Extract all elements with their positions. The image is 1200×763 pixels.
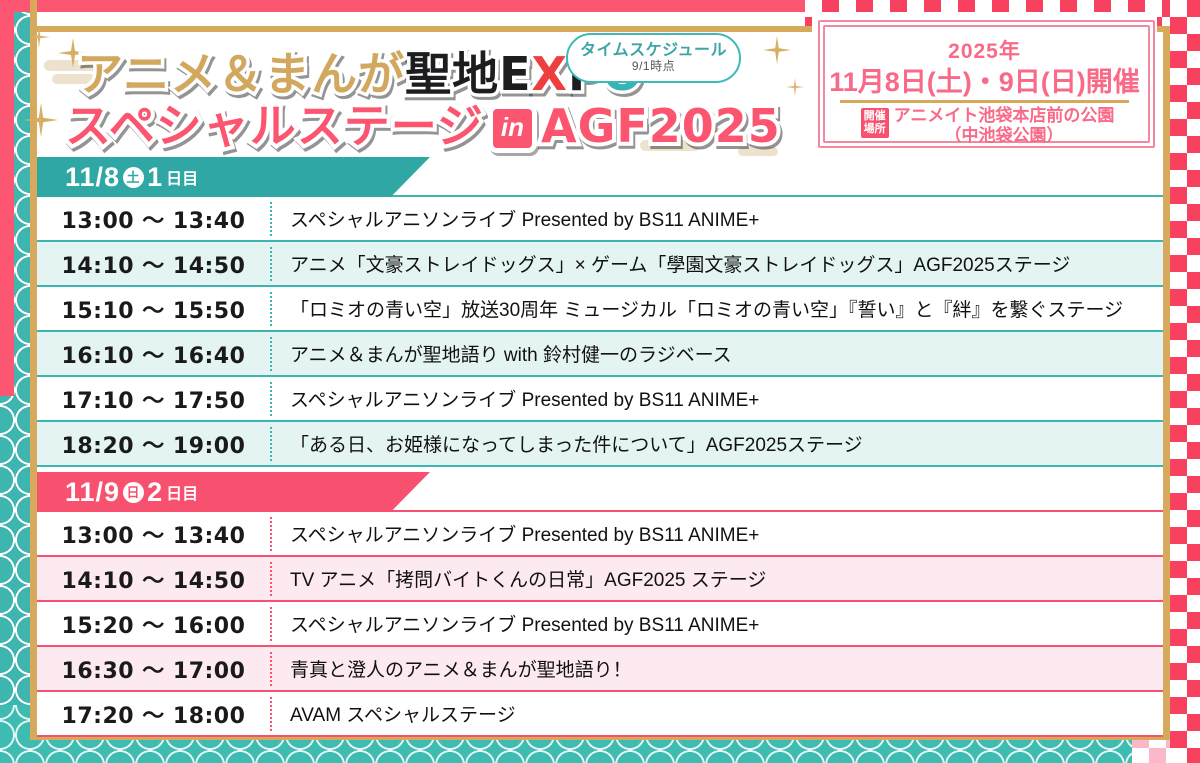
row-time: 16:10 ～ 16:40 [37, 338, 270, 370]
row-title: 青真と澄人のアニメ＆まんが聖地語り！ [272, 655, 1163, 682]
row-time: 17:20 ～ 18:00 [37, 698, 270, 730]
day1-date: 11/8 [65, 162, 120, 193]
day2-nth-number: 2 [147, 477, 163, 508]
table-row: 18:20 ～ 19:00 「ある日、お姫様になってしまった件について」AGF2… [37, 420, 1163, 467]
row-time: 16:30 ～ 17:00 [37, 653, 270, 685]
day-block-day1: 11/8 土 1 日目 13:00 ～ 13:40 スペシャルアニソンライブ P… [37, 157, 1163, 467]
day1-nth-label: 日目 [166, 165, 198, 189]
title-special-stage: スペシャルステージ [65, 90, 484, 156]
gold-frame-right [1163, 26, 1170, 740]
venue-row: 開催 場所 アニメイト池袋本店前の公園 （中池袋公園） [832, 106, 1143, 146]
table-row: 16:10 ～ 16:40 アニメ＆まんが聖地語り with 鈴村健一のラジベー… [37, 330, 1163, 377]
row-time: 14:10 ～ 14:50 [37, 248, 270, 280]
day2-nth-label: 日目 [166, 480, 198, 504]
table-row: 14:10 ～ 14:50 アニメ「文豪ストレイドッグス」× ゲーム「學園文豪ス… [37, 240, 1163, 287]
venue-sub: （中池袋公園） [894, 126, 1115, 146]
row-time: 13:00 ～ 13:40 [37, 518, 270, 550]
day2-rows: 13:00 ～ 13:40 スペシャルアニソンライブ Presented by … [37, 510, 1163, 737]
day2-weekday-badge: 日 [123, 482, 144, 503]
event-info-box: 2025年 11月8日(土)・9日(日)開催 開催 場所 アニメイト池袋本店前の… [812, 12, 1157, 152]
row-title: スペシャルアニソンライブ Presented by BS11 ANIME+ [272, 520, 1163, 547]
row-title: スペシャルアニソンライブ Presented by BS11 ANIME+ [272, 205, 1163, 232]
venue-name: アニメイト池袋本店前の公園 [894, 106, 1115, 126]
day2-label: 11/9 日 2 日目 [65, 477, 198, 508]
in-badge: in [488, 104, 537, 153]
poster-root: アニメ＆まんが聖地EXPO スペシャルステージinAGF2025 タイムスケジュ… [0, 0, 1200, 763]
table-row: 16:30 ～ 17:00 青真と澄人のアニメ＆まんが聖地語り！ [37, 645, 1163, 692]
table-row: 17:10 ～ 17:50 スペシャルアニソンライブ Presented by … [37, 375, 1163, 422]
day1-banner: 11/8 土 1 日目 [37, 157, 430, 197]
day1-weekday-badge: 土 [123, 167, 144, 188]
row-title: アニメ「文豪ストレイドッグス」× ゲーム「學園文豪ストレイドッグス」AGF202… [272, 250, 1163, 277]
day2-date: 11/9 [65, 477, 120, 508]
venue-tag-line1: 開催 [864, 110, 886, 123]
row-title: 「ロミオの青い空」放送30周年 ミュージカル「ロミオの青い空」『誓い』と『絆』を… [272, 295, 1163, 322]
row-title: TV アニメ「拷問バイトくんの日常」AGF2025 ステージ [272, 565, 1163, 592]
day1-nth-number: 1 [147, 162, 163, 193]
time-schedule-badge: タイムスケジュール 9/1時点 [566, 33, 741, 83]
row-title: スペシャルアニソンライブ Presented by BS11 ANIME+ [272, 610, 1163, 637]
table-row: 17:20 ～ 18:00 AVAM スペシャルステージ [37, 690, 1163, 737]
row-title: アニメ＆まんが聖地語り with 鈴村健一のラジベース [272, 340, 1163, 367]
row-title: AVAM スペシャルステージ [272, 700, 1163, 727]
row-time: 14:10 ～ 14:50 [37, 563, 270, 595]
table-row: 15:20 ～ 16:00 スペシャルアニソンライブ Presented by … [37, 600, 1163, 647]
row-time: 15:10 ～ 15:50 [37, 293, 270, 325]
time-schedule-label: タイムスケジュール [568, 35, 739, 59]
day-block-day2: 11/9 日 2 日目 13:00 ～ 13:40 スペシャルアニソンライブ P… [37, 472, 1163, 737]
left-pink-bar [0, 0, 14, 396]
venue-tag: 開催 場所 [861, 108, 889, 138]
day1-rows: 13:00 ～ 13:40 スペシャルアニソンライブ Presented by … [37, 195, 1163, 467]
top-pink-bar [0, 0, 805, 12]
table-row: 14:10 ～ 14:50 TV アニメ「拷問バイトくんの日常」AGF2025 … [37, 555, 1163, 602]
row-time: 18:20 ～ 19:00 [37, 428, 270, 460]
row-title: 「ある日、お姫様になってしまった件について」AGF2025ステージ [272, 430, 1163, 457]
title-line-2: スペシャルステージinAGF2025 [65, 90, 781, 156]
table-row: 15:10 ～ 15:50 「ロミオの青い空」放送30周年 ミュージカル「ロミオ… [37, 285, 1163, 332]
table-row: 13:00 ～ 13:40 スペシャルアニソンライブ Presented by … [37, 195, 1163, 242]
row-title: スペシャルアニソンライブ Presented by BS11 ANIME+ [272, 385, 1163, 412]
day1-label: 11/8 土 1 日目 [65, 162, 198, 193]
row-time: 17:10 ～ 17:50 [37, 383, 270, 415]
table-row: 13:00 ～ 13:40 スペシャルアニソンライブ Presented by … [37, 510, 1163, 557]
info-divider [840, 100, 1129, 103]
venue-tag-line2: 場所 [864, 123, 886, 136]
row-time: 13:00 ～ 13:40 [37, 203, 270, 235]
right-red-checker-band [1170, 0, 1200, 763]
day2-banner: 11/9 日 2 日目 [37, 472, 430, 512]
title-agf2025: AGF2025 [541, 99, 781, 153]
time-schedule-asof: 9/1時点 [568, 59, 739, 73]
event-dates: 11月8日(土)・9日(日)開催 [812, 60, 1157, 99]
row-time: 15:20 ～ 16:00 [37, 608, 270, 640]
